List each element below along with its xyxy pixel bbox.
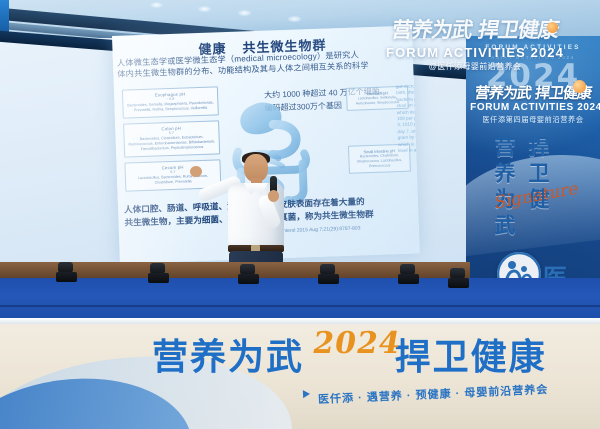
ceiling-light-icon	[288, 16, 301, 22]
ceiling-light-icon	[198, 6, 211, 12]
sun-dot-icon	[573, 80, 586, 93]
bottom-slogan-right: 捍卫健康	[395, 337, 547, 378]
stage-light	[238, 264, 260, 284]
stage-light	[318, 264, 340, 284]
stage-light	[448, 268, 470, 288]
watermark-sun-icon	[547, 22, 558, 33]
stage-light-base	[238, 274, 259, 284]
banner-cn-subtitle: 医仟添第四届母婴前沿营养会	[466, 115, 600, 125]
ceiling-light-icon	[238, 10, 251, 16]
stage-floor-seam	[0, 305, 600, 307]
watermark-en-title: FORUM ACTIVITIES 2024	[350, 45, 600, 60]
speaker-pointing-hand	[190, 166, 202, 177]
bottom-banner-year: 2024	[310, 326, 404, 361]
watermark-cn-logo: 营养为武 捍卫健康	[389, 14, 561, 44]
taxonomy-box-items: Bacteroides, Clostridium, Streptococcus,…	[352, 153, 406, 170]
conference-photo-scene: 健康共生微生物群 人体微生态学或医学微生态学（medical microecol…	[0, 0, 600, 429]
stage-light	[56, 262, 78, 282]
event-backdrop-banner: FORUM ACTIVITIES ASIAN NUTRITION 2024 20…	[466, 36, 600, 294]
taxonomy-box-items: Bacteroides, Clostridium, Eubacterium, R…	[128, 134, 216, 152]
taxonomy-box: Esophagus pH ~ 6.8 Bacteroides, Gemella,…	[122, 86, 219, 118]
speaker-mic-hand	[268, 190, 279, 202]
stage-light-base	[448, 278, 469, 288]
stage-light-base	[398, 274, 419, 284]
bottom-slogan-left: 营养为武	[152, 337, 304, 378]
banner-forum-main: FORUM ACTIVITIES 2024	[466, 102, 600, 113]
arrow-right-icon	[303, 390, 310, 398]
watermark-handle: @医仟添母婴前沿营养会	[350, 61, 600, 72]
stage-light-base	[56, 272, 77, 282]
ceiling-light-icon	[150, 2, 163, 8]
taxonomy-box-items: Bacteroides, Gemella, Megasphaera, Pseud…	[126, 100, 214, 113]
stage-light	[398, 264, 420, 284]
stage-light-base	[318, 274, 339, 284]
stage-light	[148, 263, 170, 283]
watermark: 营养为武 捍卫健康 FORUM ACTIVITIES 2024 @医仟添母婴前沿…	[350, 14, 600, 74]
stage-light-base	[148, 273, 169, 283]
